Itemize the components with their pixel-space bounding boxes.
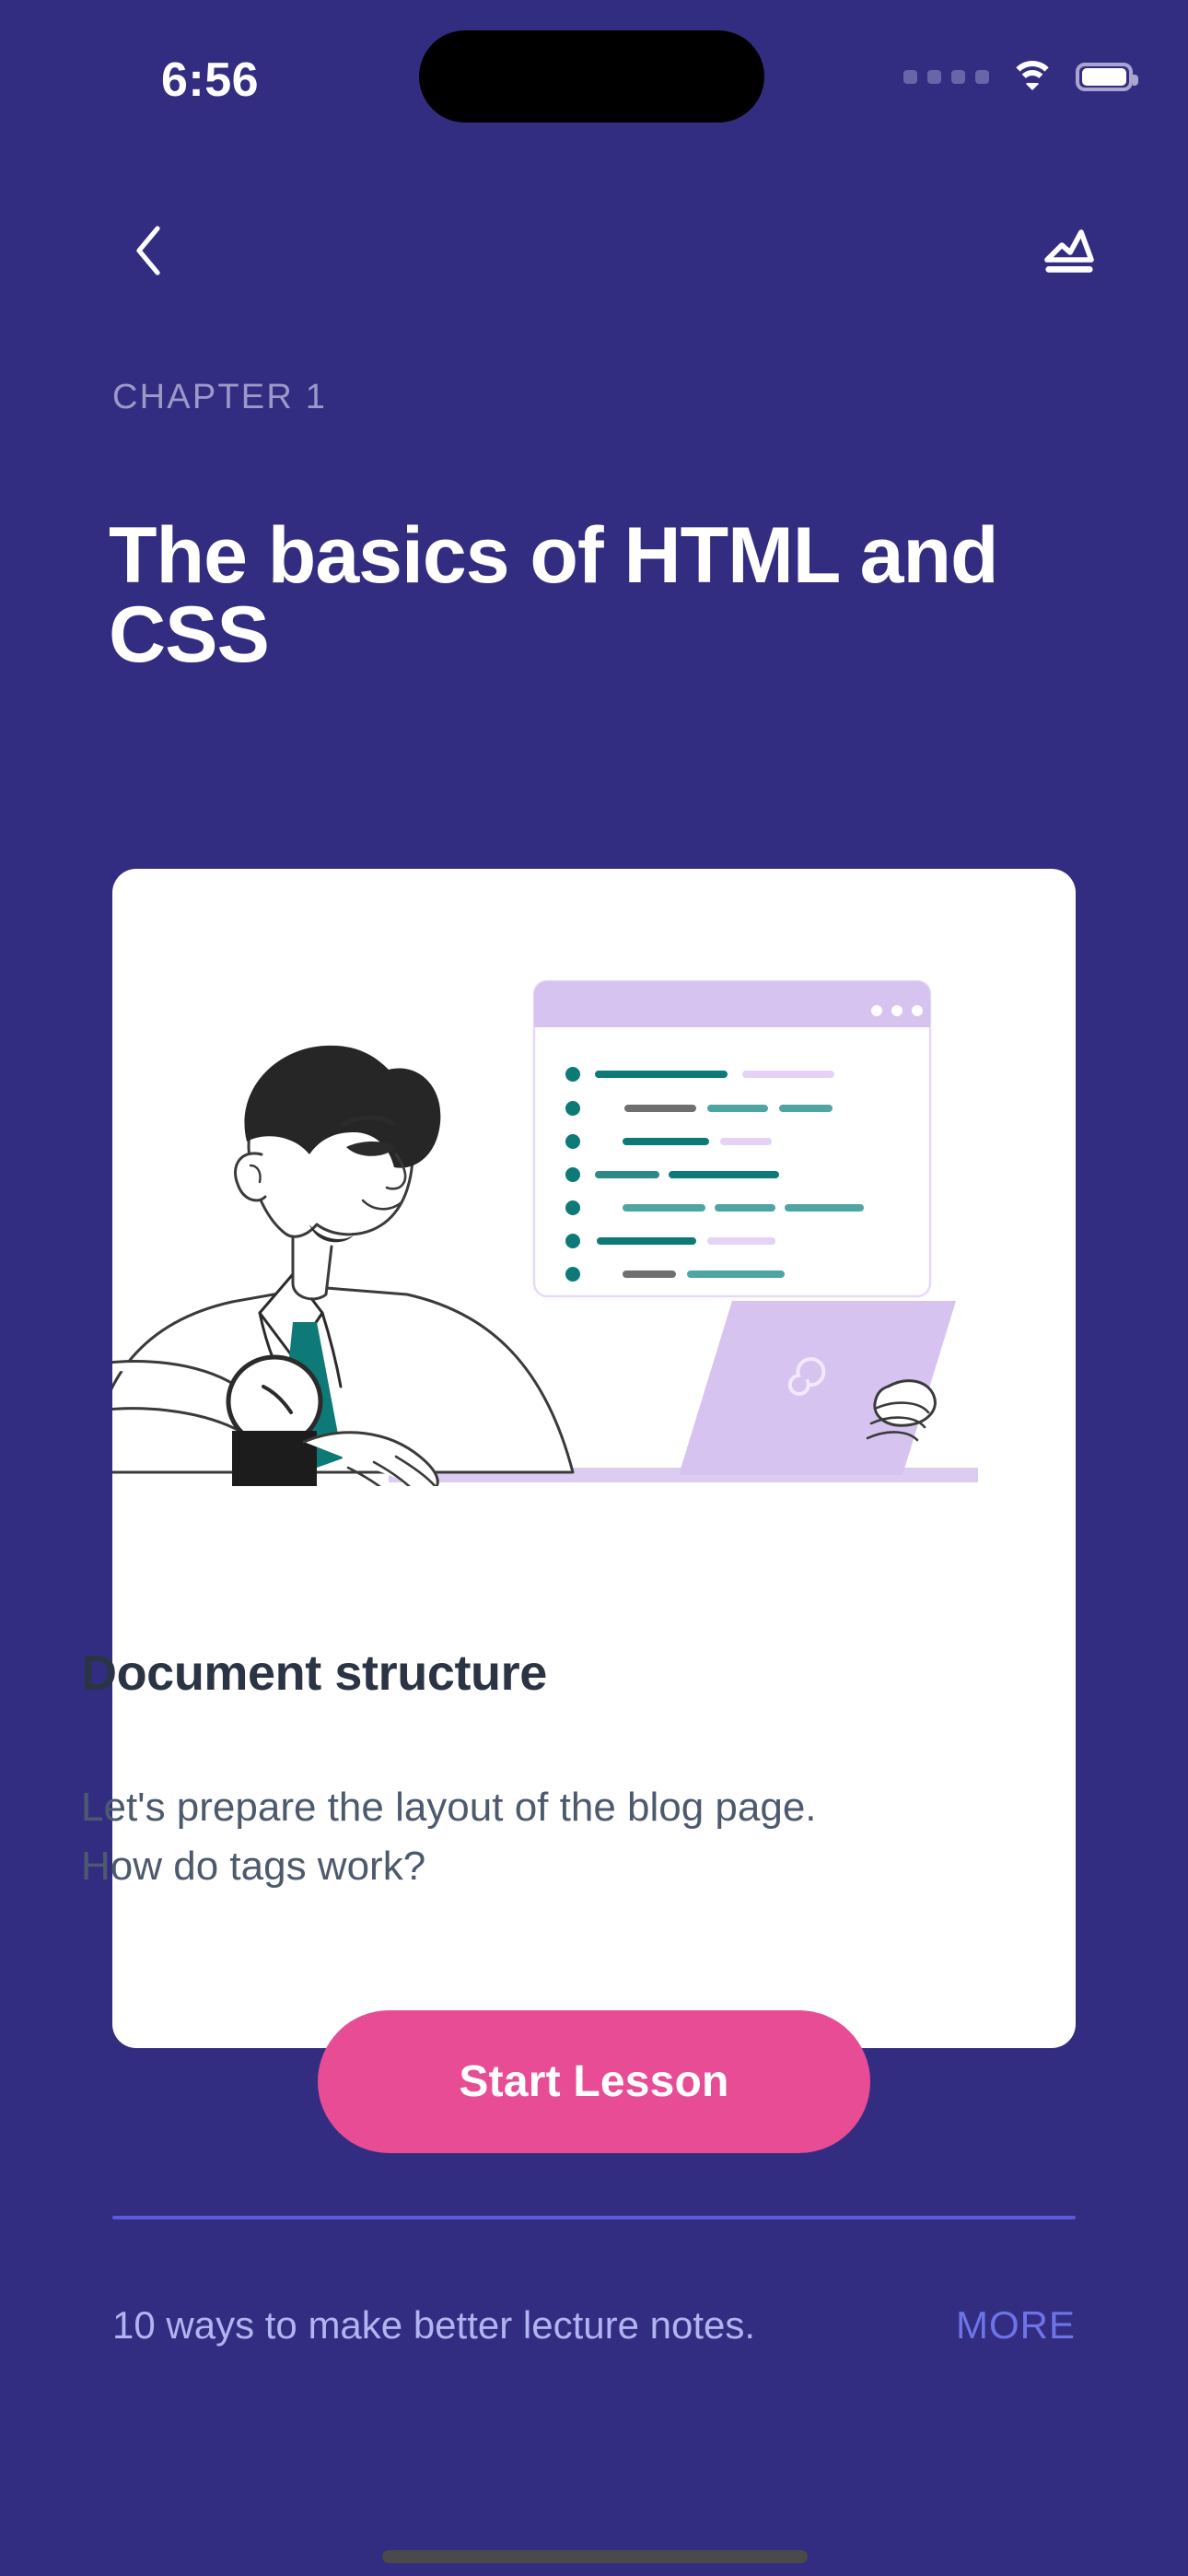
card-heading: Document structure <box>81 1645 910 1702</box>
footer-row: 10 ways to make better lecture notes. MO… <box>112 2303 1076 2348</box>
more-link[interactable]: MORE <box>956 2303 1076 2348</box>
status-time: 6:56 <box>161 53 259 108</box>
footer-tip-text: 10 ways to make better lecture notes. <box>112 2303 755 2348</box>
code-window-graphic <box>534 981 930 1296</box>
back-button[interactable] <box>109 211 188 290</box>
dynamic-island <box>419 30 764 123</box>
home-indicator[interactable] <box>382 2550 808 2563</box>
developer-at-laptop-illustration <box>112 970 1076 1486</box>
start-lesson-button[interactable]: Start Lesson <box>318 2010 870 2153</box>
signal-dots-icon <box>903 70 989 84</box>
card-body-text: Let's prepare the layout of the blog pag… <box>81 1778 901 1896</box>
area-chart-icon <box>1042 225 1097 276</box>
page-title: The basics of HTML and CSS <box>109 516 1094 674</box>
status-bar: 6:56 <box>0 0 1188 147</box>
chevron-left-icon <box>130 225 167 276</box>
chapter-label: CHAPTER 1 <box>112 378 327 417</box>
footer-divider <box>112 2216 1076 2219</box>
status-indicators <box>903 55 1133 98</box>
battery-full-icon <box>1076 63 1133 91</box>
app-screen: 6:56 CHAPTER 1 The b <box>0 0 1188 2576</box>
wifi-icon <box>1009 59 1055 94</box>
statistics-button[interactable] <box>1030 211 1109 290</box>
navigation-bar <box>0 198 1188 299</box>
